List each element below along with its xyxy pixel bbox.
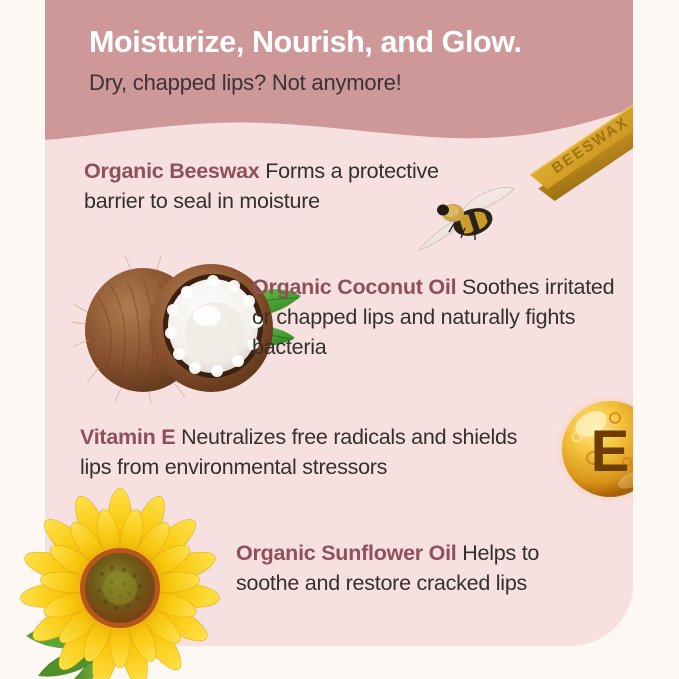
benefit-beeswax: Organic Beeswax Forms a protective barri…: [84, 156, 504, 216]
benefit-coconut-oil: Organic Coconut Oil Soothes irritated or…: [252, 272, 624, 362]
benefit-beeswax-lead: Organic Beeswax: [84, 159, 260, 183]
vitamin-e-capsule-image: E: [553, 392, 633, 506]
header-text-group: Moisturize, Nourish, and Glow. Dry, chap…: [45, 0, 633, 96]
page-title: Moisturize, Nourish, and Glow.: [89, 0, 633, 61]
infographic-canvas: Moisturize, Nourish, and Glow. Dry, chap…: [0, 0, 679, 679]
sunflower-image: [8, 492, 234, 679]
page-subtitle: Dry, chapped lips? Not anymore!: [89, 61, 633, 96]
benefit-sunflower-oil: Organic Sunflower Oil Helps to soothe an…: [236, 538, 596, 598]
beeswax-bar-image: BEESWAX: [521, 116, 633, 236]
vitamin-e-letter: E: [591, 419, 630, 484]
benefit-vitamin-e-lead: Vitamin E: [80, 425, 175, 449]
benefit-vitamin-e: Vitamin E Neutralizes free radicals and …: [80, 422, 532, 482]
benefit-coconut-oil-lead: Organic Coconut Oil: [252, 275, 456, 299]
benefit-sunflower-oil-lead: Organic Sunflower Oil: [236, 541, 457, 565]
